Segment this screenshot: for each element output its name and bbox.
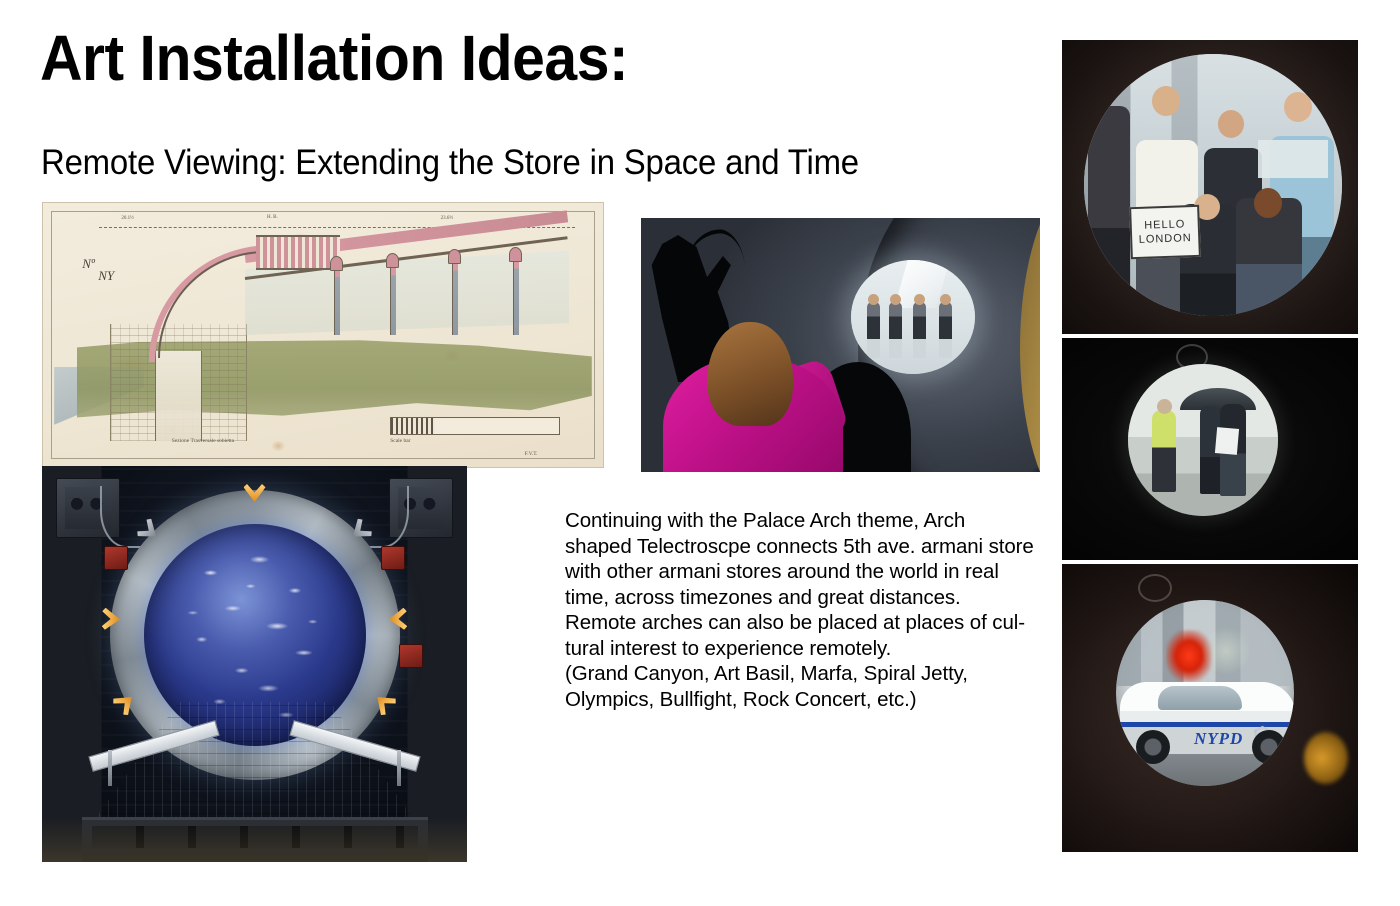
portal-pink-hoodie-visitor <box>663 332 843 472</box>
pink-hoodie-hair <box>707 322 793 426</box>
nypd-patrol-car: NYPD <box>1120 682 1294 754</box>
hello-london-head-front-right <box>1254 188 1282 218</box>
nypd-car-portal-image: NYPD <box>1062 564 1358 852</box>
page-title: Art Installation Ideas: <box>40 26 628 90</box>
nypd-car-windshield <box>1158 686 1242 710</box>
drawing-dim-label-left: 20.1½ <box>121 216 134 221</box>
drawing-scale-caption: Scale bar <box>390 438 410 444</box>
drawing-finial-4 <box>509 247 522 262</box>
hello-london-sign: HELLO LONDON <box>1129 205 1201 259</box>
sign-line-hello: HELLO <box>1144 217 1186 232</box>
umbrella-street-papers <box>1215 427 1239 455</box>
drawing-dim-label-mid: H. B. <box>267 215 278 220</box>
umbrella-street-person-green-coat <box>1152 410 1176 492</box>
hello-london-head-center <box>1218 110 1244 138</box>
stargate-rail-post-left <box>108 750 112 786</box>
body-copy-text: Continuing with the Palace Arch theme, A… <box>565 508 1055 712</box>
drawing-plate-mark: F.V.T. <box>525 451 538 457</box>
nypd-car-wheel-rear <box>1252 730 1286 764</box>
stargate-floor-glow <box>42 818 467 862</box>
umbrella-street-view-disc <box>1128 364 1278 516</box>
drawing-vertical-shaft <box>155 351 202 441</box>
nypd-view-disc: NYPD <box>1116 600 1294 786</box>
compass-label-n: Nº <box>82 256 95 271</box>
nypd-orange-blur <box>1304 732 1348 784</box>
nypd-portal-lens-mark <box>1138 574 1172 602</box>
sign-line-london: LONDON <box>1138 231 1192 247</box>
portal-view-figure-3 <box>913 302 926 358</box>
portal-view-figure-4 <box>939 302 952 358</box>
page-subtitle: Remote Viewing: Extending the Store in S… <box>41 143 859 183</box>
hello-london-white-card <box>1258 140 1328 178</box>
portal-view-figure-2 <box>889 302 902 358</box>
stargate-image <box>42 466 467 862</box>
hello-london-person-left <box>1088 106 1130 316</box>
drawing-ornamental-crest <box>256 235 340 271</box>
nypd-lens-glare <box>1200 628 1252 674</box>
hello-london-view-disc: HELLO LONDON <box>1084 54 1342 316</box>
compass-label-ny: NY <box>98 268 114 284</box>
drawing-post-2 <box>390 264 396 335</box>
drawing-compass-note: Nº NY <box>82 256 114 284</box>
drawing-finial-1 <box>330 256 343 271</box>
drawing-scale-bar <box>390 417 560 435</box>
drawing-post-1 <box>334 266 340 335</box>
architectural-drawing-image: 20.1½ H. B. 23.6½ Nº NY Scale bar Sezion… <box>42 202 604 468</box>
drawing-title-caption: Sezione Trasversale sobietta <box>172 438 234 444</box>
umbrella-street-portal-image <box>1062 338 1358 560</box>
drawing-post-4 <box>513 256 519 335</box>
nypd-car-wheel-front <box>1136 730 1170 764</box>
stargate-clamp-left-upper <box>104 546 128 570</box>
hello-london-head-right <box>1284 92 1312 122</box>
drawing-dim-label-right: 23.6½ <box>441 216 454 221</box>
telectroscope-portal-image <box>641 218 1040 472</box>
drawing-finial-2 <box>386 253 399 268</box>
hello-london-portal-image: HELLO LONDON <box>1062 40 1358 334</box>
portal-view-disc <box>851 260 975 374</box>
stargate-rail-post-right <box>397 750 401 786</box>
drawing-post-3 <box>452 258 458 335</box>
hello-london-head-waving <box>1152 86 1180 116</box>
portal-view-figure-1 <box>867 302 880 358</box>
stargate-clamp-right-lower <box>399 644 423 668</box>
drawing-finial-3 <box>448 249 461 264</box>
stargate-clamp-right-upper <box>381 546 405 570</box>
nypd-car-marking: NYPD <box>1194 729 1243 749</box>
nypd-car-stripe <box>1120 722 1294 727</box>
